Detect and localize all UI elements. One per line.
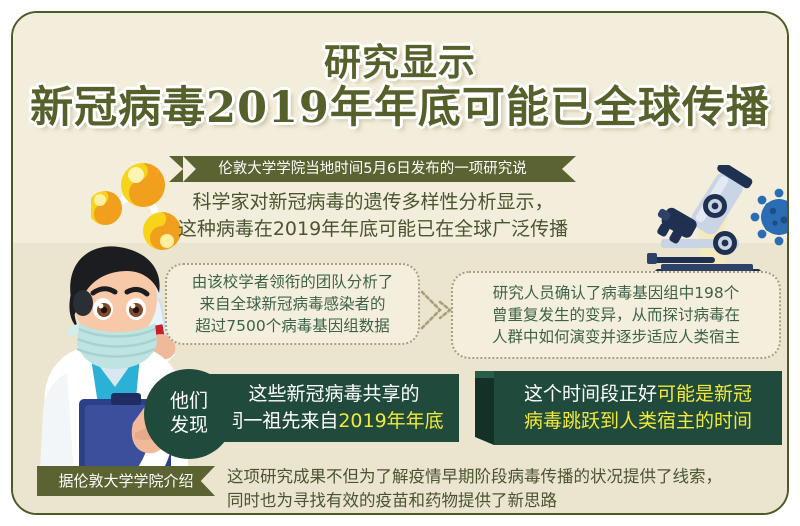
bubble-right-line-3: 人群中如何演变并逐步适应人类宿主 [492,326,740,348]
discovery-left-line-1: 这些新冠病毒共享的 [224,381,443,408]
note-text: 这项研究成果不但为了解疫情早期阶段病毒传播的状况提供了线索， 同时也为寻找有效的… [227,465,787,513]
discovery-right-line-2-highlight: 病毒跳跃到人类宿主的时间 [524,408,752,435]
lead-line-2: 这种病毒在2019年年底可能已在全球广泛传播 [153,216,593,243]
poster-frame: 研究显示 新冠病毒2019年年底可能已全球传播 伦敦大学学院当地时间5月6日发布… [11,11,789,515]
bubble-right-line-1: 研究人员确认了病毒基因组中198个 [492,282,740,304]
bubble-right: 研究人员确认了病毒基因组中198个 曾重复发生的变异，从而探讨病毒在 人群中如何… [451,271,781,359]
discovery-left-line-2-plain: 同一祖先来自 [224,410,338,432]
note-line-1: 这项研究成果不但为了解疫情早期阶段病毒传播的状况提供了线索， [227,465,787,489]
bubble-connector-arrow-icon [418,288,454,332]
page-title: 研究显示 新冠病毒2019年年底可能已全球传播 [13,43,787,131]
ribbon-fold [475,378,494,445]
lead-line-1: 科学家对新冠病毒的遗传多样性分析显示， [153,189,593,216]
bubble-left-line-1: 由该校学者领衔的团队分析了 [192,271,394,293]
discovery-right-line-1-highlight: 可能是新冠 [657,383,752,405]
discovery-badge: 他们 发现 [144,369,234,459]
bubble-left: 由该校学者领衔的团队分析了 来自全球新冠病毒感染者的 超过7500个病毒基因组数… [165,263,420,345]
discovery-right-line-1-plain: 这个时间段正好 [524,383,657,405]
discovery-left-line-2-highlight: 2019年年底 [338,410,443,432]
virus-icon [751,189,789,246]
bubble-left-line-2: 来自全球新冠病毒感染者的 [192,293,394,315]
infographic-poster: 研究显示 新冠病毒2019年年底可能已全球传播 伦敦大学学院当地时间5月6日发布… [0,0,800,526]
title-line-2: 新冠病毒2019年年底可能已全球传播 [13,86,787,131]
title-line-1: 研究显示 [13,43,787,82]
discovery-badge-line-1: 他们 [170,390,208,414]
discovery-bar-right: 这个时间段正好可能是新冠 病毒跳跃到人类宿主的时间 [494,371,782,445]
bubble-right-line-2: 曾重复发生的变异，从而探讨病毒在 [492,304,740,326]
note-ribbon-label: 据伦敦大学学院介绍 [37,466,215,496]
lead-paragraph: 科学家对新冠病毒的遗传多样性分析显示， 这种病毒在2019年年底可能已在全球广泛… [153,189,593,243]
bubble-left-line-3: 超过7500个病毒基因组数据 [192,315,394,337]
note-line-2: 同时也为寻找有效的疫苗和药物提供了新思路 [227,489,787,513]
discovery-badge-line-2: 发现 [170,414,208,438]
source-ribbon: 伦敦大学学院当地时间5月6日发布的一项研究说 [183,156,562,182]
discovery-bar-left: 这些新冠病毒共享的 同一祖先来自2019年年底 [209,374,459,442]
